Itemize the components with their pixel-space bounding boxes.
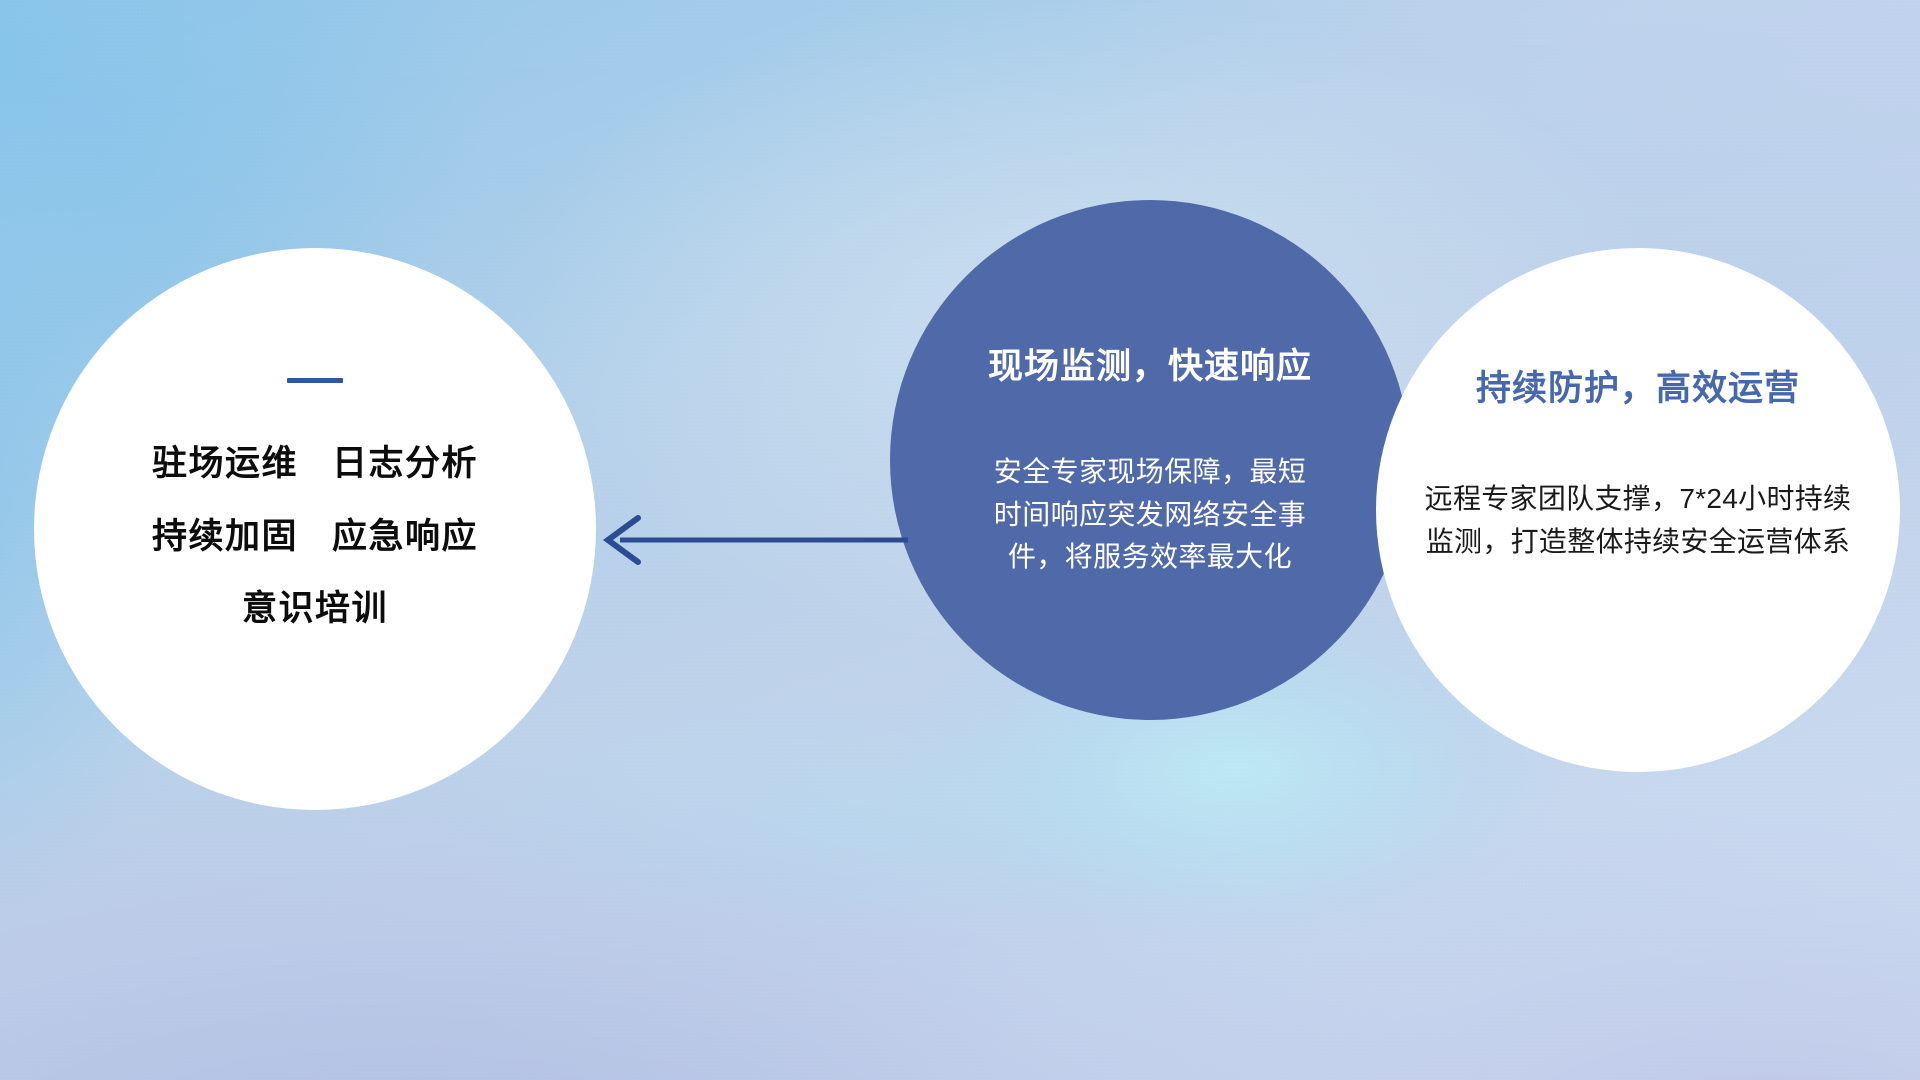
right-circle-title: 持续防护，高效运营 (1476, 360, 1800, 411)
right-circle-body: 远程专家团队支撑，7*24小时持续监测，打造整体持续安全运营体系 (1424, 477, 1852, 564)
right-circle-content: 持续防护，高效运营 远程专家团队支撑，7*24小时持续监测，打造整体持续安全运营… (1376, 248, 1900, 772)
middle-circle-title: 现场监测，快速响应 (988, 338, 1312, 389)
service-tag: 应急响应 (332, 518, 478, 557)
arrow-left-icon (590, 508, 910, 572)
slide-canvas: 现场监测，快速响应 安全专家现场保障，最短时间响应突发网络安全事件，将服务效率最… (0, 0, 1920, 1080)
service-tag: 意识培训 (242, 590, 388, 629)
horizontal-dash-icon (287, 378, 343, 383)
service-tag: 日志分析 (332, 445, 478, 484)
service-tag: 驻场运维 (152, 445, 298, 484)
middle-circle-body: 安全专家现场保障，最短时间响应突发网络安全事件，将服务效率最大化 (993, 451, 1307, 579)
left-circle-tag-row: 意识培训 (242, 590, 388, 629)
middle-circle-card: 现场监测，快速响应 安全专家现场保障，最短时间响应突发网络安全事件，将服务效率最… (890, 200, 1410, 720)
service-tag: 持续加固 (152, 518, 298, 557)
left-circle-tag-row: 持续加固 应急响应 (152, 518, 478, 557)
left-circle-card: 驻场运维 日志分析 持续加固 应急响应 意识培训 (34, 248, 596, 810)
middle-circle-content: 现场监测，快速响应 安全专家现场保障，最短时间响应突发网络安全事件，将服务效率最… (890, 200, 1410, 720)
left-circle-tag-row: 驻场运维 日志分析 (152, 445, 478, 484)
left-circle-content: 驻场运维 日志分析 持续加固 应急响应 意识培训 (34, 248, 596, 810)
right-circle-card: 持续防护，高效运营 远程专家团队支撑，7*24小时持续监测，打造整体持续安全运营… (1376, 248, 1900, 772)
left-circle-tag-rows: 驻场运维 日志分析 持续加固 应急响应 意识培训 (152, 445, 478, 629)
